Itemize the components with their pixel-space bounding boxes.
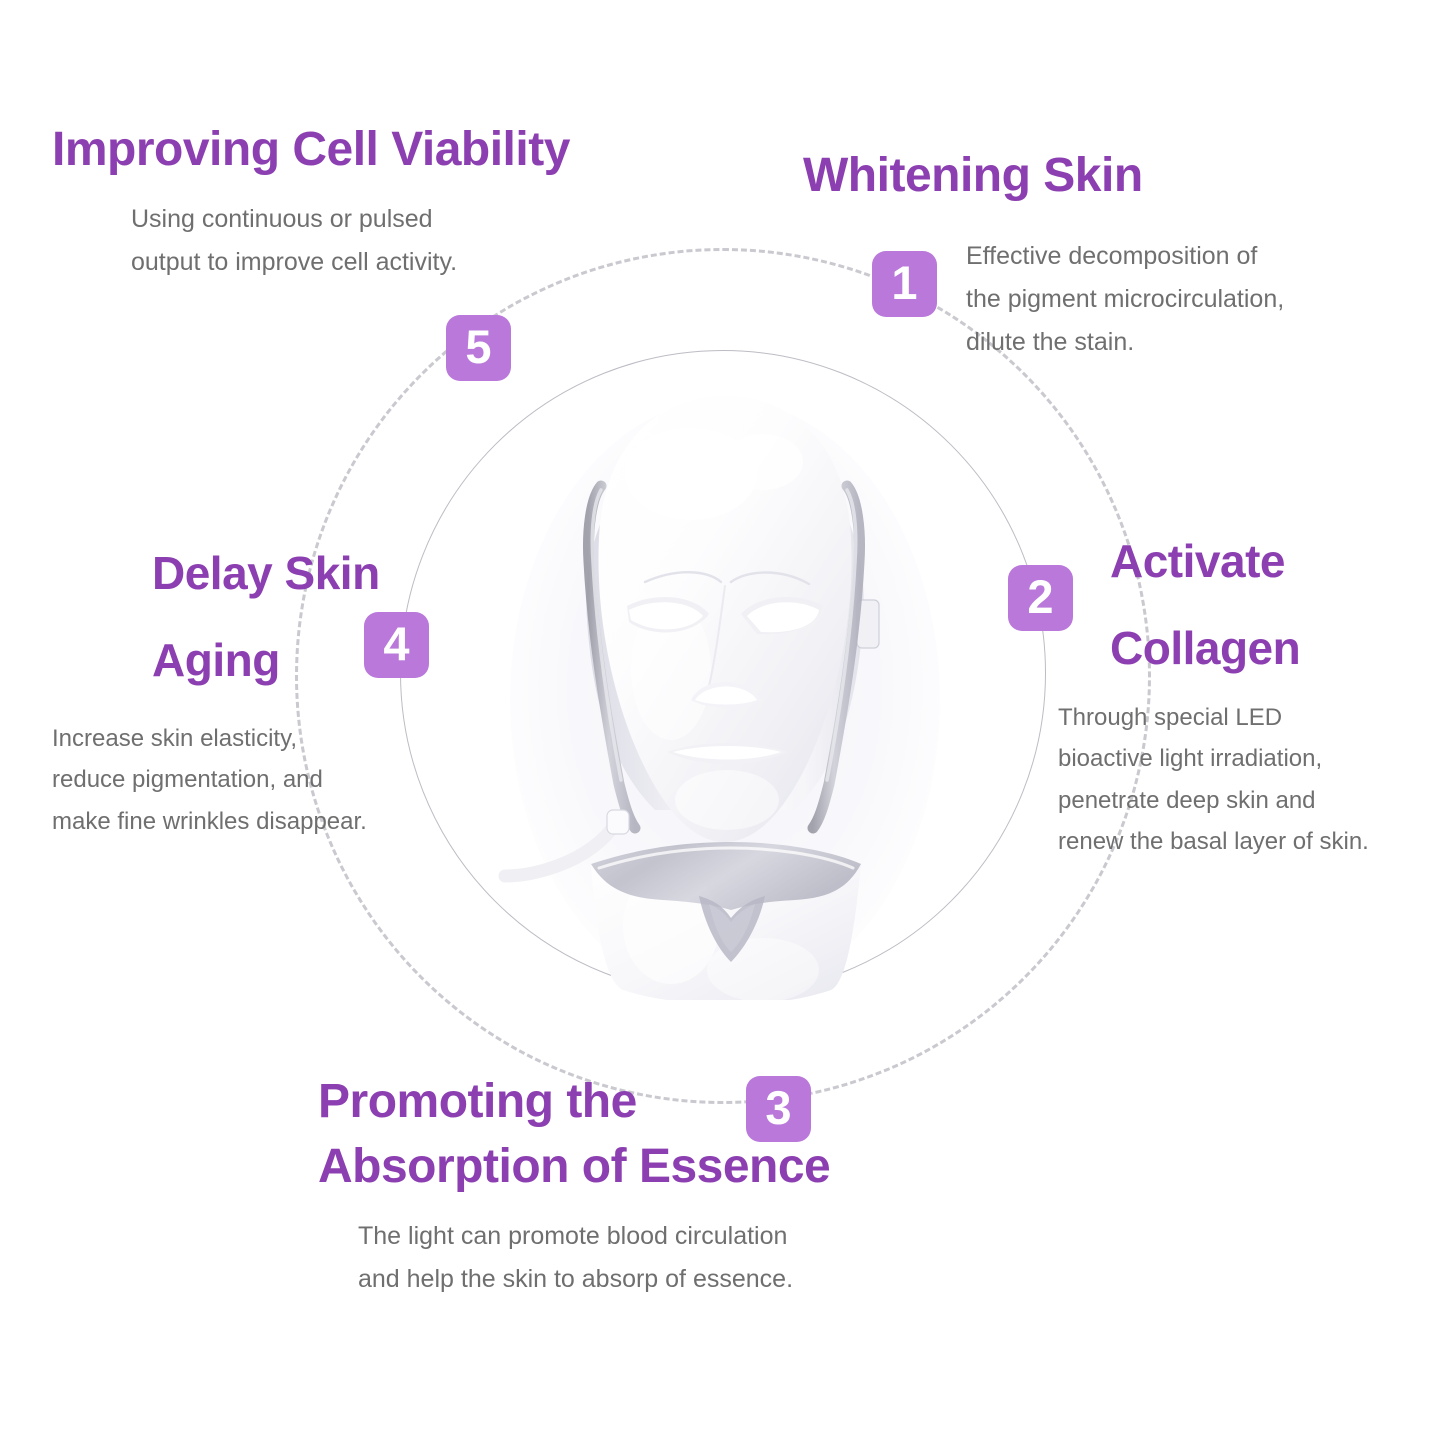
feature-title-3: Promoting the Absorption of Essence	[318, 1070, 1018, 1200]
feature-title-1: Whitening Skin	[803, 148, 1423, 204]
feature-badge-5: 5	[446, 315, 511, 381]
feature-title-2: Activate Collagen	[1110, 518, 1440, 693]
feature-body-4: Increase skin elasticity, reduce pigment…	[52, 718, 482, 842]
feature-title-5: Improving Cell Viability	[52, 122, 742, 178]
feature-badge-3: 3	[746, 1076, 811, 1142]
feature-body-1: Effective decomposition of the pigment m…	[966, 235, 1406, 364]
feature-badge-4: 4	[364, 612, 429, 678]
feature-badge-2: 2	[1008, 565, 1073, 631]
feature-body-3: The light can promote blood circulation …	[358, 1215, 1058, 1301]
infographic-canvas: Improving Cell Viability Using continuou…	[0, 0, 1445, 1445]
feature-body-5: Using continuous or pulsed output to imp…	[131, 198, 751, 284]
feature-body-2: Through special LED bioactive light irra…	[1058, 697, 1445, 862]
led-mask-image	[495, 370, 955, 1000]
feature-badge-1: 1	[872, 251, 937, 317]
